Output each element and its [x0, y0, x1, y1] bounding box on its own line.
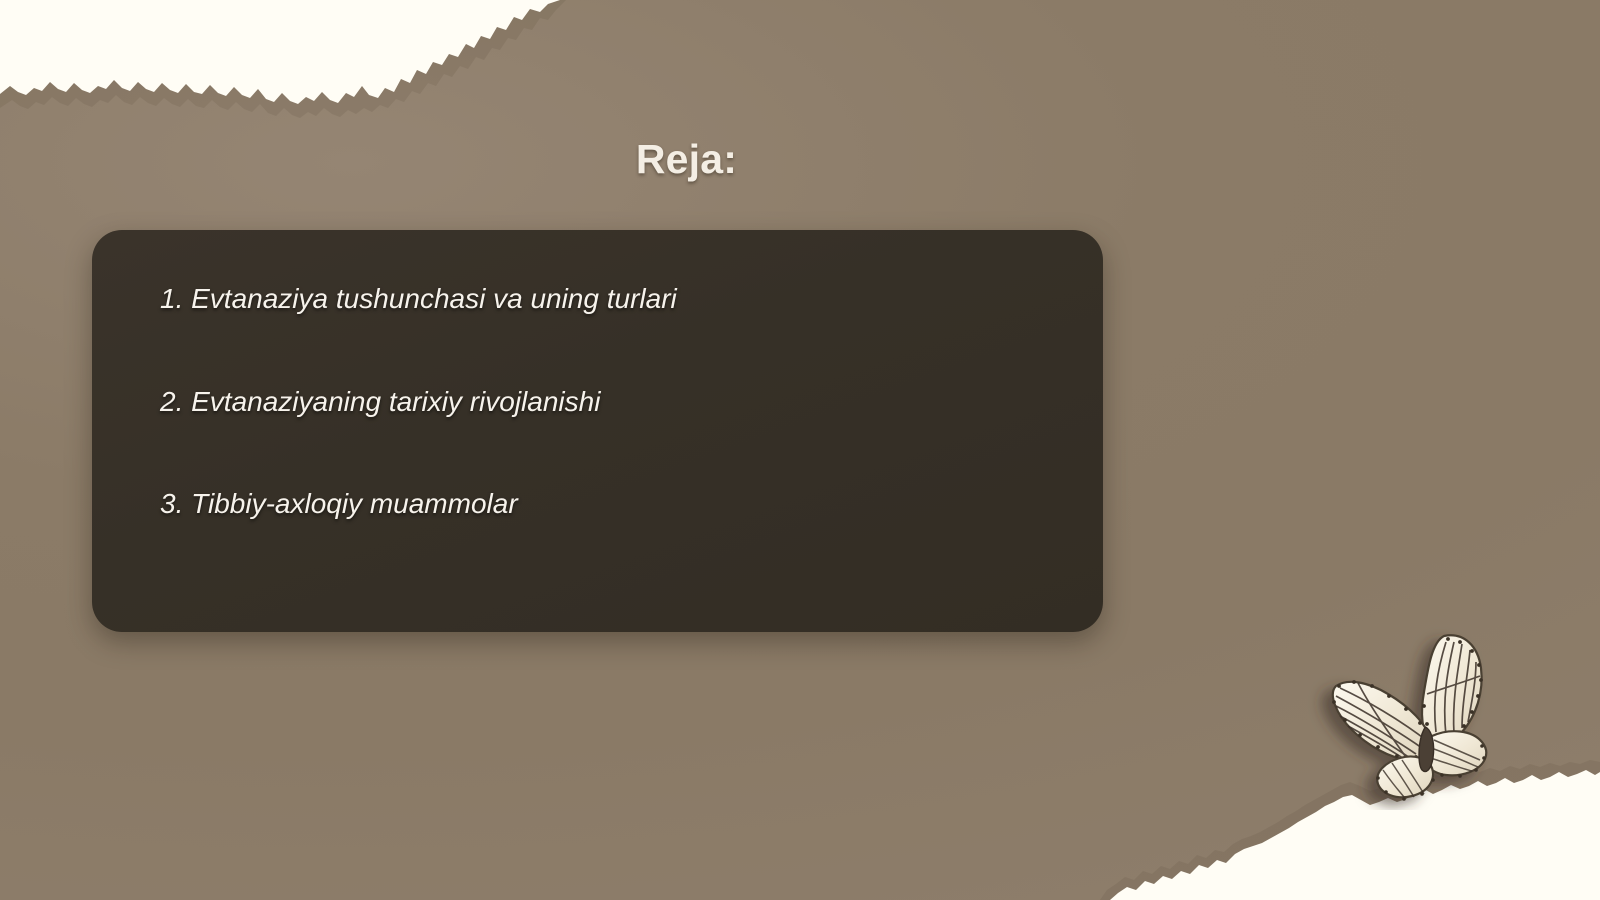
list-item: 3. Tibbiy-axloqiy muammolar: [160, 487, 1063, 521]
list-item: 1. Evtanaziya tushunchasi va uning turla…: [160, 282, 1063, 316]
agenda-list: 1. Evtanaziya tushunchasi va uning turla…: [160, 282, 1063, 521]
butterfly-wings: [1332, 635, 1486, 800]
slide-canvas: Reja: 1. Evtanaziya tushunchasi va uning…: [0, 0, 1600, 900]
butterfly-icon: [1296, 620, 1506, 810]
page-title: Reja:: [0, 136, 1373, 183]
list-item: 2. Evtanaziyaning tarixiy rivojlanishi: [160, 385, 1063, 419]
agenda-card: 1. Evtanaziya tushunchasi va uning turla…: [92, 230, 1103, 632]
butterfly-wing-upper-right: [1422, 635, 1483, 744]
butterfly-wing-upper-left: [1332, 680, 1431, 760]
